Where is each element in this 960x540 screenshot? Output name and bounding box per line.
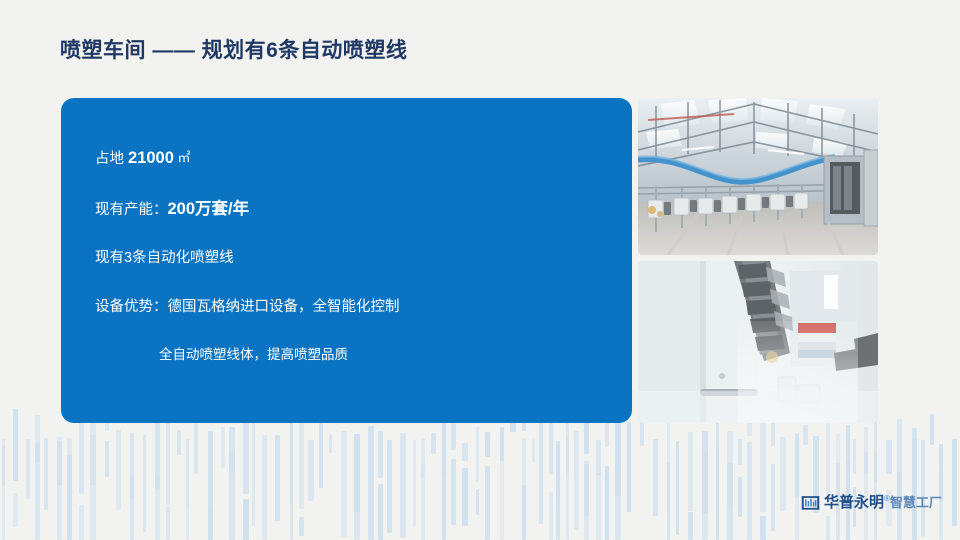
decorative-bar	[90, 435, 96, 540]
decorative-bar	[155, 476, 160, 540]
decorative-bar	[13, 493, 18, 527]
decorative-bar	[413, 440, 416, 527]
info-line-area-unit: ㎡	[174, 150, 191, 165]
footer-sub-brand: 智慧工厂	[890, 496, 942, 509]
decorative-bar	[378, 431, 383, 479]
info-line-existing-lines-text: 现有3条自动化喷塑线	[95, 250, 234, 266]
decorative-bar	[760, 516, 766, 540]
decorative-bar	[354, 439, 360, 540]
decorative-bar	[886, 440, 892, 473]
decorative-bar	[2, 446, 5, 540]
decorative-bar	[930, 414, 934, 444]
decorative-bar	[596, 440, 601, 475]
decorative-bar	[667, 462, 670, 540]
page-title: 喷塑车间 —— 规划有6条自动喷塑线	[60, 34, 407, 64]
decorative-bar	[130, 475, 134, 540]
decorative-bar	[556, 444, 560, 540]
info-line-quality-text: 全自动喷塑线体，提高喷塑品质	[159, 347, 348, 362]
decorative-bar	[299, 410, 304, 509]
decorative-bar	[627, 422, 631, 511]
decorative-bar	[846, 425, 850, 457]
decorative-bar	[431, 433, 436, 454]
footer-logo: 华普永明® 智慧工厂	[801, 491, 942, 513]
decorative-bar	[596, 473, 601, 540]
photo-spray-booth	[638, 261, 878, 423]
decorative-bar	[243, 414, 249, 494]
decorative-bar	[532, 439, 535, 463]
decorative-bar	[378, 484, 383, 540]
info-line-capacity: 现有产能：200万套/年	[95, 201, 632, 218]
decorative-bar	[186, 507, 189, 540]
photo-factory-line-graphic	[638, 98, 878, 255]
decorative-bar	[13, 409, 18, 481]
info-line-equipment-advantage-text: 设备优势：德国瓦格纳进口设备，全智能化控制	[95, 299, 400, 315]
decorative-bar	[702, 452, 708, 540]
decorative-bar	[462, 468, 468, 526]
info-line-area: 占地 21000 ㎡	[95, 150, 632, 167]
photo-spray-booth-graphic	[638, 261, 878, 423]
decorative-bar	[605, 466, 609, 540]
decorative-bar	[476, 489, 479, 515]
footer-brand-text: 华普永明	[824, 494, 884, 511]
info-panel: 占地 21000 ㎡ 现有产能：200万套/年 现有3条自动化喷塑线 设备优势：…	[61, 98, 632, 423]
decorative-bar	[79, 505, 84, 540]
decorative-bar	[952, 439, 957, 526]
decorative-bar	[795, 433, 799, 540]
decorative-bar	[387, 440, 392, 533]
decorative-bar	[229, 454, 235, 540]
decorative-bar	[826, 415, 830, 501]
decorative-bar	[485, 466, 490, 540]
decorative-bar	[275, 435, 280, 521]
decorative-bar	[308, 440, 314, 501]
decorative-bar	[853, 439, 856, 474]
decorative-bar	[451, 459, 456, 525]
decorative-bar	[243, 499, 249, 540]
decorative-bar	[549, 492, 553, 540]
decorative-bar	[921, 440, 925, 537]
decorative-bar	[368, 426, 374, 457]
decorative-bar	[35, 443, 40, 540]
info-line-capacity-value: 200万套/年	[168, 200, 250, 218]
info-line-existing-lines: 现有3条自动化喷塑线	[95, 251, 632, 266]
decorative-bar	[290, 489, 293, 540]
decorative-bar	[760, 420, 766, 513]
decorative-bar	[539, 422, 543, 524]
info-line-area-prefix: 占地	[95, 151, 128, 167]
decorative-bar	[221, 427, 225, 468]
decorative-bar	[116, 430, 121, 510]
footer-brand-name: 华普永明®	[824, 495, 890, 510]
decorative-bar	[143, 435, 146, 531]
decorative-bar	[566, 437, 569, 540]
decorative-bar	[105, 441, 109, 477]
decorative-bar	[329, 434, 332, 453]
decorative-bar	[341, 431, 347, 537]
decorative-bar	[780, 437, 786, 512]
info-line-area-value: 21000	[128, 149, 174, 167]
decorative-bar	[676, 441, 679, 535]
info-line-equipment-advantage: 设备优势：德国瓦格纳进口设备，全智能化控制	[95, 300, 632, 315]
decorative-bar	[747, 442, 752, 540]
decorative-bar	[166, 506, 170, 540]
decorative-bar	[299, 517, 304, 535]
decorative-bar	[615, 462, 621, 540]
decorative-bar	[421, 464, 425, 540]
decorative-bar	[500, 427, 504, 461]
decorative-bar	[688, 512, 693, 540]
decorative-bar	[44, 438, 48, 510]
decorative-bar	[826, 516, 830, 540]
decorative-bar	[208, 431, 213, 520]
decorative-bar	[716, 447, 719, 540]
decorative-bar	[727, 463, 733, 540]
decorative-bar	[485, 432, 490, 457]
decorative-bar	[186, 439, 189, 508]
decorative-bar	[584, 422, 589, 453]
decorative-bar	[262, 435, 267, 540]
info-line-quality: 全自动喷塑线体，提高喷塑品质	[95, 348, 632, 362]
decorative-bar	[522, 485, 526, 540]
decorative-bar	[771, 420, 775, 447]
decorative-bar	[803, 425, 808, 446]
decorative-bar	[252, 419, 255, 526]
decorative-bar	[462, 443, 468, 461]
decorative-bar	[67, 455, 72, 540]
decorative-bar	[208, 510, 213, 540]
info-line-capacity-prefix: 现有产能：	[95, 202, 168, 218]
decorative-bar	[451, 423, 456, 450]
decorative-bar	[738, 477, 742, 517]
decorative-bar	[442, 464, 446, 540]
decorative-bar	[584, 461, 589, 540]
decorative-bar	[368, 456, 374, 540]
decorative-bar	[912, 439, 917, 540]
decorative-bar	[605, 421, 609, 447]
decorative-bar	[57, 437, 62, 540]
decorative-bar	[771, 464, 775, 531]
factory-mark-icon	[801, 493, 820, 512]
photo-factory-line	[638, 98, 878, 255]
decorative-bar	[26, 439, 30, 499]
decorative-bar	[738, 439, 742, 465]
decorative-bar	[400, 433, 406, 538]
decorative-bar	[500, 457, 504, 540]
decorative-bar	[522, 438, 526, 489]
decorative-bar	[177, 430, 181, 455]
decorative-bar	[476, 427, 479, 482]
decorative-bar	[653, 439, 658, 516]
decorative-bar	[319, 418, 323, 488]
decorative-bar	[688, 432, 693, 510]
decorative-bar	[574, 431, 579, 530]
